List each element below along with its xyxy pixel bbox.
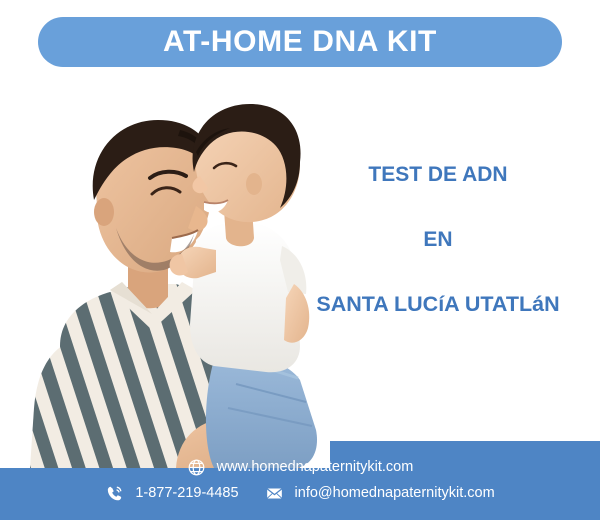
footer-row-website: www.homednapaternitykit.com [0, 458, 600, 477]
phone-label: 1-877-219-4485 [135, 486, 238, 501]
envelope-icon [265, 484, 284, 503]
poster-canvas: AT-HOME DNA KIT [0, 0, 600, 520]
footer-contact-block: www.homednapaternitykit.com 1-877-219-44… [0, 441, 600, 520]
footer-row-phone-email: 1-877-219-4485 info@homednapaternitykit.… [0, 484, 600, 503]
headline-line-1: TEST DE ADN [288, 164, 588, 185]
family-photo-illustration [0, 78, 330, 468]
headline-line-3: SANTA LUCíA UTATLáN [288, 294, 588, 316]
headline-line-2: EN [288, 229, 588, 250]
family-photo [0, 78, 330, 468]
header-banner: AT-HOME DNA KIT [38, 17, 562, 67]
phone-item[interactable]: 1-877-219-4485 [105, 484, 238, 503]
banner-title: AT-HOME DNA KIT [163, 27, 437, 57]
website-item[interactable]: www.homednapaternitykit.com [187, 458, 414, 477]
website-label: www.homednapaternitykit.com [217, 460, 414, 475]
email-item[interactable]: info@homednapaternitykit.com [265, 484, 495, 503]
phone-icon [105, 484, 124, 503]
email-label: info@homednapaternitykit.com [295, 486, 495, 501]
headline-block: TEST DE ADN EN SANTA LUCíA UTATLáN [288, 160, 588, 316]
globe-icon [187, 458, 206, 477]
